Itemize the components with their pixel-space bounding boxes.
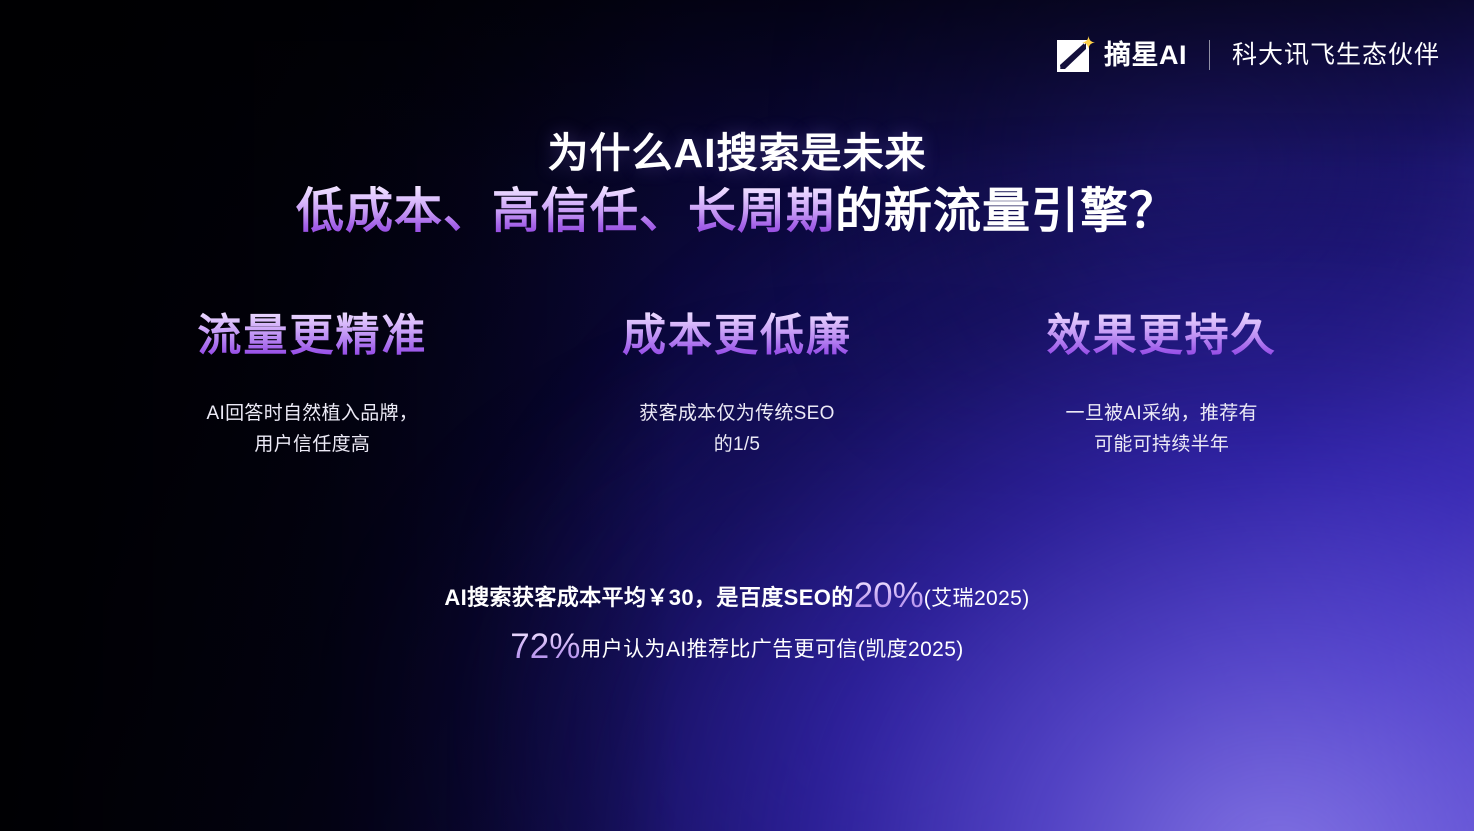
- feature-body: 获客成本仅为传统SEO 的1/5: [537, 399, 938, 461]
- feature-column-cost: 成本更低廉 获客成本仅为传统SEO 的1/5: [525, 310, 950, 460]
- statistic-value: 20%: [854, 576, 924, 615]
- brand-logo-group: 摘星AI: [1057, 36, 1187, 74]
- presentation-slide: 摘星AI 科大讯飞生态伙伴 为什么AI搜索是未来 低成本、高信任、长周期的新流量…: [0, 0, 1474, 831]
- statistic-source: 用户认为AI推荐比广告更可信(凯度2025): [580, 638, 963, 661]
- feature-body-line: 的1/5: [537, 430, 938, 461]
- feature-columns: 流量更精准 AI回答时自然植入品牌， 用户信任度高 成本更低廉 获客成本仅为传统…: [100, 310, 1374, 460]
- feature-column-durability: 效果更持久 一旦被AI采纳，推荐有 可能可持续半年: [949, 310, 1374, 460]
- brand-bar: 摘星AI 科大讯飞生态伙伴: [1057, 36, 1440, 74]
- brand-name: 摘星AI: [1104, 42, 1187, 69]
- feature-body-line: 一旦被AI采纳，推荐有: [961, 399, 1362, 430]
- feature-title: 效果更持久: [961, 310, 1362, 363]
- statistic-row-trust: 72%用户认为AI推荐比广告更可信(凯度2025): [0, 629, 1474, 666]
- statistic-source: (艾瑞2025): [924, 587, 1030, 610]
- feature-body-line: 用户信任度高: [112, 430, 513, 461]
- statistic-row-cost: AI搜索获客成本平均￥30，是百度SEO的20%(艾瑞2025): [0, 578, 1474, 615]
- four-point-star-icon: [1082, 36, 1095, 49]
- statistics-block: AI搜索获客成本平均￥30，是百度SEO的20%(艾瑞2025) 72%用户认为…: [0, 578, 1474, 666]
- headline-line-2: 低成本、高信任、长周期的新流量引擎？: [0, 181, 1474, 243]
- headline-rest-text: 的新流量引擎？: [835, 185, 1178, 238]
- feature-body-line: 获客成本仅为传统SEO: [537, 399, 938, 430]
- feature-body: 一旦被AI采纳，推荐有 可能可持续半年: [961, 399, 1362, 461]
- statistic-prefix: AI搜索获客成本平均￥30，是百度SEO的: [444, 585, 853, 610]
- feature-title: 流量更精准: [112, 310, 513, 363]
- feature-column-traffic: 流量更精准 AI回答时自然植入品牌， 用户信任度高: [100, 310, 525, 460]
- feature-title: 成本更低廉: [537, 310, 938, 363]
- brand-partner-label: 科大讯飞生态伙伴: [1232, 43, 1440, 68]
- feature-body: AI回答时自然植入品牌， 用户信任度高: [112, 399, 513, 461]
- headline-block: 为什么AI搜索是未来 低成本、高信任、长周期的新流量引擎？: [0, 128, 1474, 244]
- feature-body-line: 可能可持续半年: [961, 430, 1362, 461]
- feature-body-line: AI回答时自然植入品牌，: [112, 399, 513, 430]
- statistic-value: 72%: [510, 627, 580, 666]
- brand-divider: [1209, 40, 1210, 70]
- headline-highlight-text: 低成本、高信任、长周期: [296, 185, 835, 238]
- headline-line-1: 为什么AI搜索是未来: [0, 128, 1474, 179]
- brand-logo-mark: [1057, 36, 1095, 74]
